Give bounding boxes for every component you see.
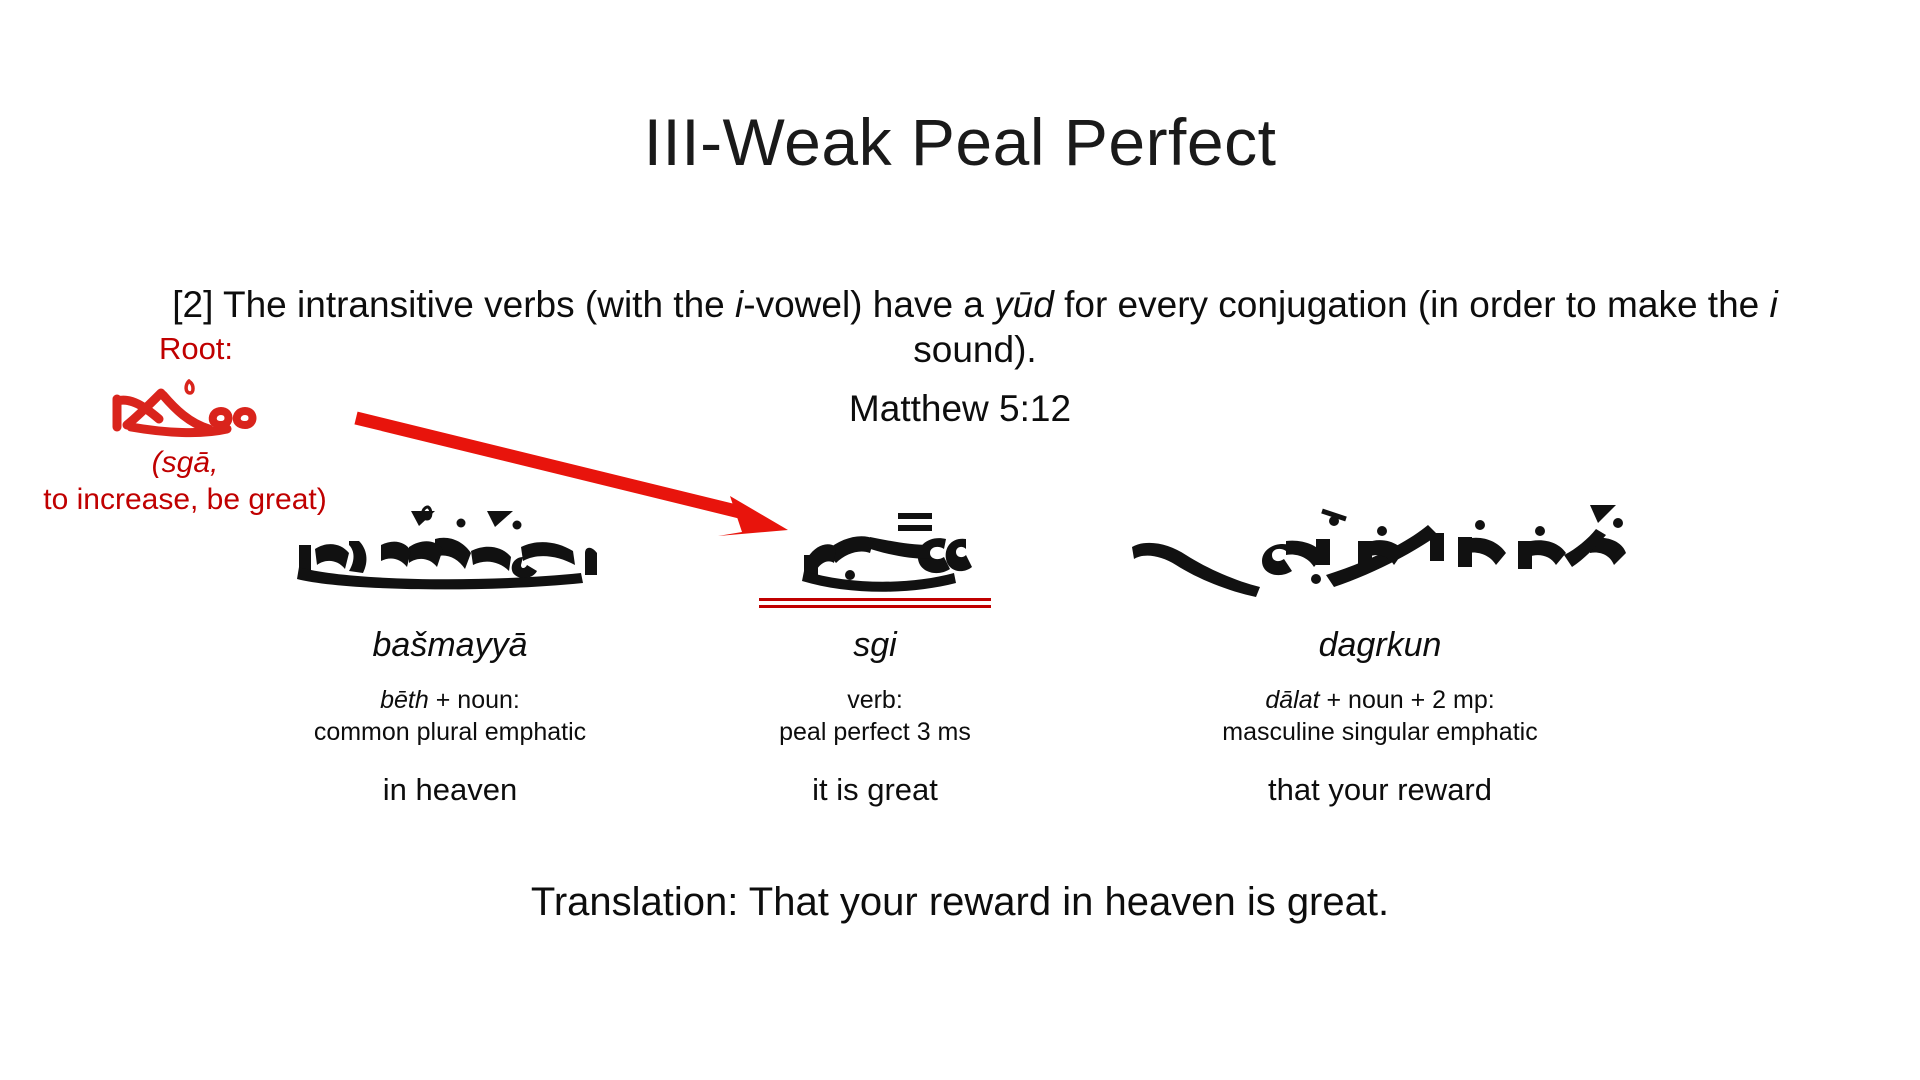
- word-column-2: sgi verb: peal perfect 3 ms it is great: [665, 495, 1085, 808]
- syriac-word-dagrkun: [1055, 495, 1705, 605]
- parse-note-1: bēth + noun: common plural emphatic: [215, 684, 685, 749]
- parse-prefix-1: bēth: [380, 686, 429, 714]
- syriac-root-sga-handwritten: [10, 371, 360, 443]
- parse-line2-3: masculine singular emphatic: [1055, 716, 1705, 749]
- transliteration-3: dagrkun: [1055, 625, 1705, 666]
- intro-paragraph: [2] The intransitive verbs (with the i-v…: [170, 282, 1780, 372]
- root-annotation-block: Root: (sgā, to increase, be great): [10, 330, 360, 518]
- intro-text-part1: [2] The intransitive verbs (with the: [172, 284, 735, 325]
- word-column-3: dagrkun dālat + noun + 2 mp: masculine s…: [1055, 495, 1705, 808]
- root-label: Root:: [32, 330, 360, 367]
- intro-italic-yud: yūd: [994, 284, 1054, 325]
- syriac-word-bashmayya: [215, 495, 685, 605]
- gloss-3: that your reward: [1055, 771, 1705, 808]
- parse-rest-1: + noun:: [429, 686, 520, 714]
- intro-text-part2: -vowel) have a: [743, 284, 994, 325]
- slide-canvas: III-Weak Peal Perfect [2] The intransiti…: [0, 0, 1920, 1080]
- transliteration-1: bašmayyā: [215, 625, 685, 666]
- gloss-1: in heaven: [215, 771, 685, 808]
- syriac-word-sgi: [665, 495, 1085, 605]
- red-double-underline: [759, 598, 991, 609]
- parse-line2-1: common plural emphatic: [215, 716, 685, 749]
- page-title: III-Weak Peal Perfect: [0, 108, 1920, 177]
- word-column-1: bašmayyā bēth + noun: common plural emph…: [215, 495, 685, 808]
- parse-rest-3: + noun + 2 mp:: [1320, 686, 1495, 714]
- gloss-2: it is great: [665, 771, 1085, 808]
- intro-text-part4: sound).: [913, 329, 1036, 370]
- parse-line2-2: peal perfect 3 ms: [665, 716, 1085, 749]
- full-translation: Translation: That your reward in heaven …: [0, 880, 1920, 925]
- word-analysis-columns: bašmayyā bēth + noun: common plural emph…: [215, 495, 1705, 825]
- root-gloss-italic: (sgā,: [152, 446, 219, 479]
- parse-note-3: dālat + noun + 2 mp: masculine singular …: [1055, 684, 1705, 749]
- intro-text-part3: for every conjugation (in order to make …: [1054, 284, 1770, 325]
- transliteration-2: sgi: [665, 625, 1085, 666]
- parse-rest-2: verb:: [847, 686, 903, 714]
- intro-italic-i2: i: [1770, 284, 1778, 325]
- parse-prefix-3: dālat: [1265, 686, 1319, 714]
- parse-note-2: verb: peal perfect 3 ms: [665, 684, 1085, 749]
